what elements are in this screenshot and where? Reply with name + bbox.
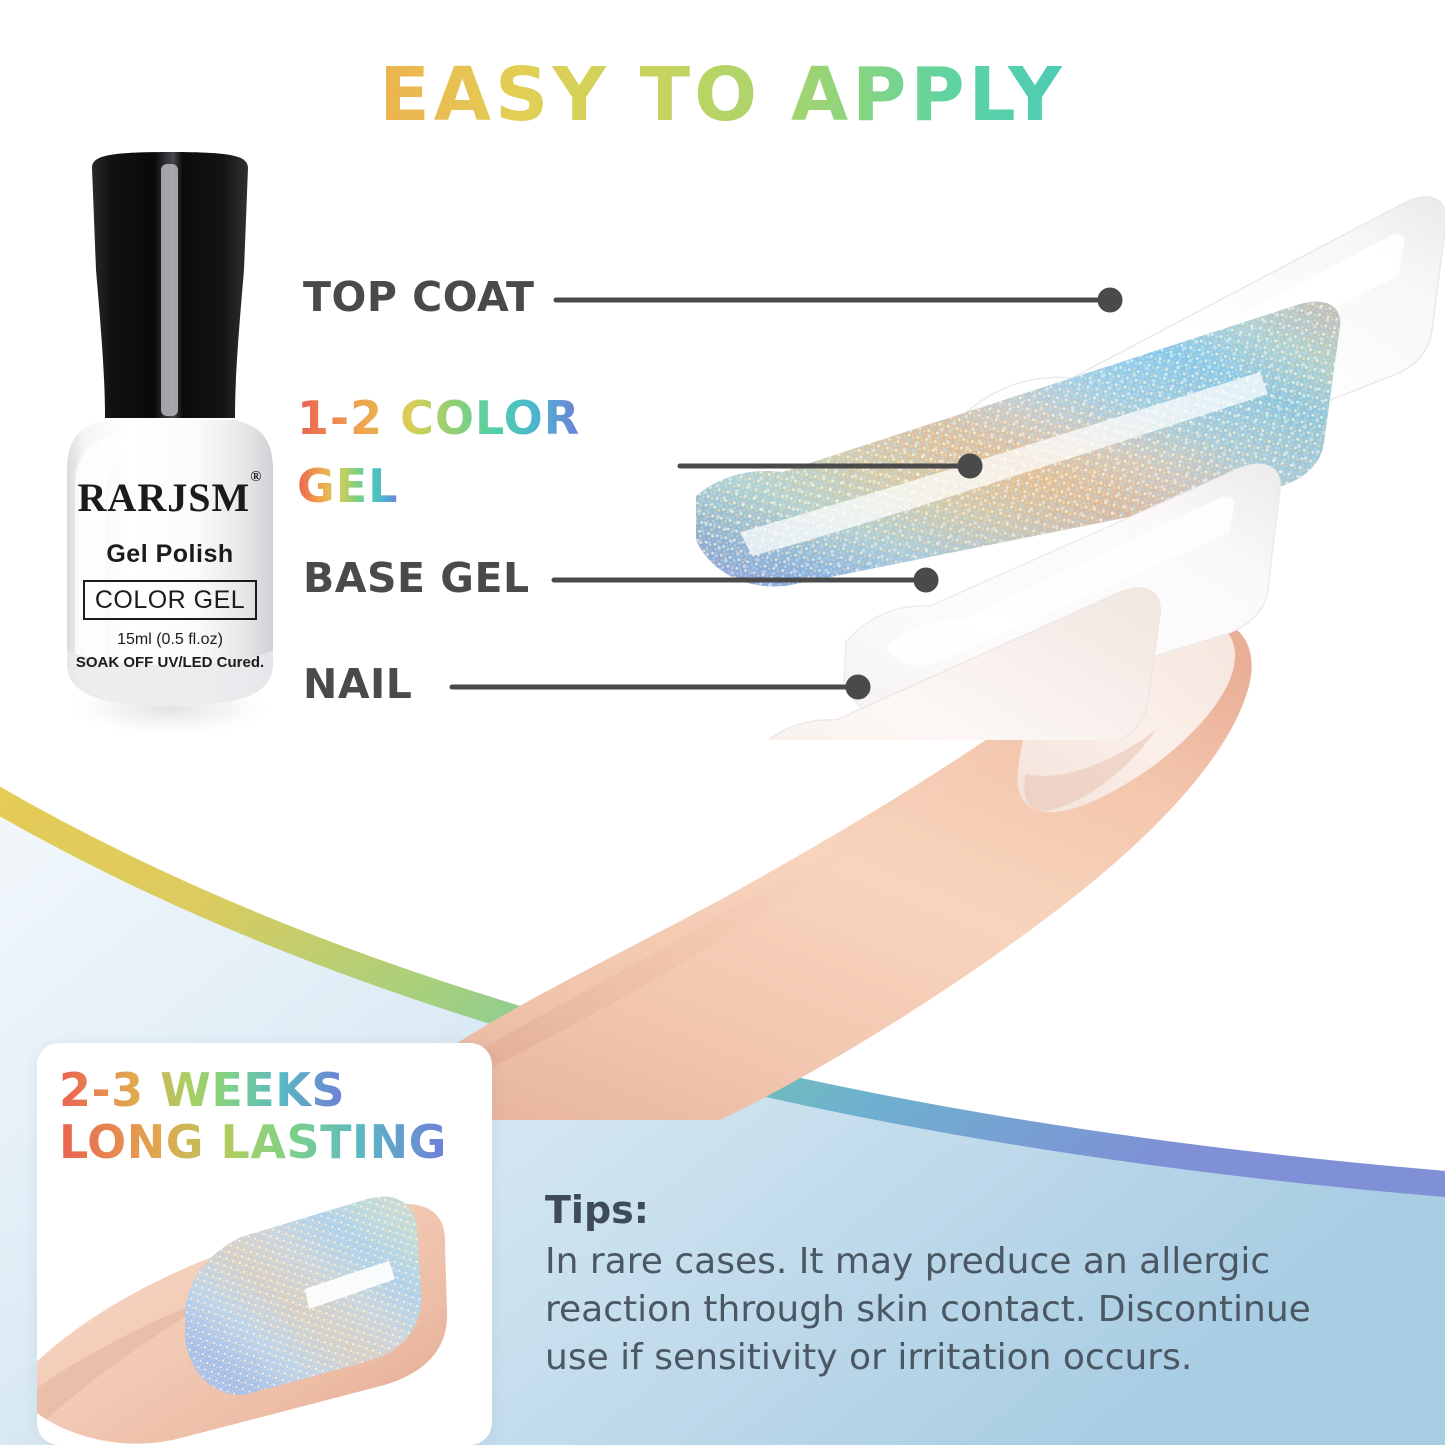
gel-polish-bottle: RARJSM® Gel Polish COLOR GEL 15ml (0.5 f…: [45, 150, 295, 750]
page-title: EASY TO APPLY: [0, 58, 1445, 132]
bottle-product-type: COLOR GEL: [83, 580, 257, 620]
label-top-coat: TOP COAT: [303, 276, 535, 319]
label-color-gel-line2: GEL: [297, 462, 399, 511]
tips-block: Tips: In rare cases. It may preduce an a…: [545, 1188, 1385, 1383]
label-nail: NAIL: [303, 663, 412, 706]
label-color-gel-line1: 1-2 COLOR: [297, 394, 580, 443]
label-base-gel: BASE GEL: [303, 557, 530, 600]
registered-mark: ®: [250, 469, 262, 485]
badge-line-1: 2-3 WEEKS: [59, 1067, 345, 1114]
long-lasting-badge-card: 2-3 WEEKS LONG LASTING: [37, 1043, 492, 1445]
badge-line-2: LONG LASTING: [59, 1119, 447, 1166]
bottle-cure-note: SOAK OFF UV/LED Cured.: [45, 654, 295, 671]
nail-layer-stack: [600, 180, 1445, 740]
infographic-page: EASY TO APPLY RARJSM® Gel Polish COLOR G…: [0, 0, 1445, 1445]
tips-body: In rare cases. It may preduce an allergi…: [545, 1238, 1385, 1383]
bottle-volume: 15ml (0.5 fl.oz): [45, 631, 295, 649]
bottle-brand: RARJSM®: [45, 474, 295, 521]
badge-nail-photo: [37, 1181, 492, 1445]
bottle-product-line: Gel Polish: [45, 540, 295, 569]
tips-heading: Tips:: [545, 1188, 1385, 1232]
